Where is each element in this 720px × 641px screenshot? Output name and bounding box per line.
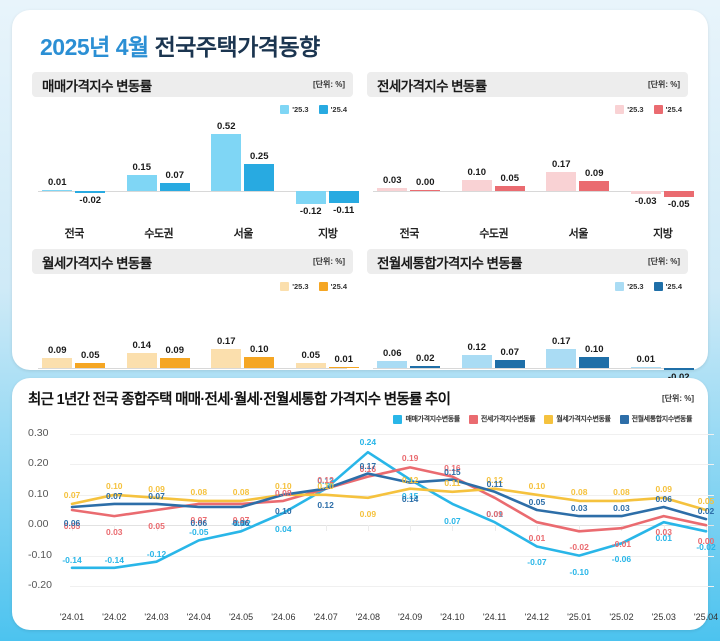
- legend-label: '25.4: [331, 282, 347, 291]
- category-label: 지방: [628, 225, 698, 241]
- data-point-label: 0.09: [486, 509, 503, 519]
- bar: [410, 366, 440, 368]
- bar-value-label: 0.02: [402, 353, 448, 364]
- data-point-label: 0.10: [275, 481, 292, 491]
- data-point-label: 0.07: [64, 490, 81, 500]
- data-point-label: 0.08: [191, 487, 208, 497]
- trend-plot: 0.300.200.100.00-0.10-0.20-0.14-0.14-0.1…: [28, 426, 718, 611]
- panel-header: 전월세통합가격지수 변동률[단위: %]: [367, 249, 688, 274]
- data-point-label: 0.10: [529, 481, 546, 491]
- bar-group: 0.150.07: [127, 119, 190, 223]
- data-point-label: 0.11: [487, 479, 503, 489]
- legend-swatch-icon: [319, 105, 328, 114]
- data-point-label: 0.08: [613, 487, 630, 497]
- panel-title: 전월세통합가격지수 변동률: [377, 252, 522, 272]
- x-axis-tick-label: '25.02: [609, 612, 633, 622]
- trend-legend-swatch-icon: [620, 415, 629, 424]
- data-point-label: 0.05: [698, 496, 715, 506]
- legend-swatch-icon: [319, 282, 328, 291]
- x-axis-tick-label: '24.09: [398, 612, 422, 622]
- trend-legend-label: 전세가격지수변동률: [481, 414, 535, 424]
- legend-item: '25.3: [615, 282, 643, 291]
- legend-item: '25.4: [319, 282, 347, 291]
- x-axis-tick-label: '24.03: [144, 612, 168, 622]
- data-point-label: 0.05: [529, 497, 546, 507]
- legend-item: '25.3: [280, 282, 308, 291]
- legend-item: '25.4: [654, 282, 682, 291]
- panel-header: 매매가격지수 변동률[단위: %]: [32, 72, 353, 97]
- x-axis-tick-label: '24.08: [356, 612, 380, 622]
- data-point-label: -0.02: [570, 542, 589, 552]
- unit-label: [단위: %]: [313, 79, 345, 90]
- legend-label: '25.4: [666, 105, 682, 114]
- bar-value-label: 0.52: [203, 121, 249, 132]
- bar: [75, 191, 105, 193]
- category-label: 서울: [208, 225, 278, 241]
- bar: [631, 367, 661, 369]
- legend-swatch-icon: [280, 105, 289, 114]
- trend-legend-item: 전월세통합지수변동률: [620, 414, 692, 424]
- trend-chart-card: 최근 1년간 전국 종합주택 매매·전세·월세·전월세통합 가격지수 변동률 추…: [12, 378, 708, 630]
- data-point-label: 0.10: [275, 506, 292, 516]
- bar: [495, 360, 525, 368]
- bar: [160, 183, 190, 191]
- bar-area: 0.030.000.100.050.170.09-0.03-0.05: [367, 119, 688, 223]
- bar-item: 0.03: [377, 119, 407, 223]
- panel-title: 매매가격지수 변동률: [42, 75, 152, 95]
- bar-item: 0.09: [579, 119, 609, 223]
- bar-group: 0.520.25: [211, 119, 274, 223]
- data-point-label: 0.03: [106, 527, 123, 537]
- trend-legend-label: 매매가격지수변동률: [405, 414, 459, 424]
- x-axis-tick-label: '24.10: [440, 612, 464, 622]
- title-month: 2025년 4월: [40, 34, 149, 60]
- bar: [410, 190, 440, 192]
- top-panels-card: 2025년 4월 전국주택가격동향 매매가격지수 변동률[단위: %]'25.3…: [12, 10, 708, 370]
- x-axis-tick-label: '24.05: [229, 612, 253, 622]
- category-label: 지방: [293, 225, 363, 241]
- legend-label: '25.3: [627, 282, 643, 291]
- legend-item: '25.4: [654, 105, 682, 114]
- x-axis-tick-label: '24.04: [187, 612, 211, 622]
- unit-label: [단위: %]: [313, 256, 345, 267]
- data-point-label: 0.03: [655, 527, 672, 537]
- bar: [244, 357, 274, 368]
- data-point-label: 0.05: [148, 521, 165, 531]
- title-main: 전국주택가격동향: [155, 34, 320, 60]
- data-point-label: 0.02: [698, 506, 715, 516]
- x-axis-tick-label: '25.03: [652, 612, 676, 622]
- x-axis-tick-label: '25.01: [567, 612, 591, 622]
- legend-swatch-icon: [280, 282, 289, 291]
- bar: [244, 164, 274, 192]
- trend-legend-label: 월세가격지수변동률: [556, 414, 610, 424]
- data-point-label: 0.07: [106, 491, 123, 501]
- bar-item: 0.52: [211, 119, 241, 223]
- data-point-label: 0.10: [317, 481, 334, 491]
- data-point-label: 0.17: [360, 461, 377, 471]
- bar-value-label: 0.10: [236, 344, 282, 355]
- legend-swatch-icon: [615, 105, 624, 114]
- bar-value-label: 0.01: [623, 354, 669, 365]
- bar-value-label: 0.05: [487, 173, 533, 184]
- data-point-label: 0.10: [106, 481, 123, 491]
- panel-2: 전세가격지수 변동률[단위: %]'25.3'25.40.030.000.100…: [367, 72, 688, 243]
- data-point-label: 0.14: [402, 494, 419, 504]
- bar: [495, 186, 525, 192]
- category-label: 서울: [543, 225, 613, 241]
- legend-label: '25.3: [627, 105, 643, 114]
- panel-legend: '25.3'25.4: [32, 278, 347, 294]
- trend-legend-item: 월세가격지수변동률: [544, 414, 610, 424]
- panel-legend: '25.3'25.4: [32, 101, 347, 117]
- bar: [211, 134, 241, 191]
- legend-label: '25.4: [666, 282, 682, 291]
- infographic-page: 2025년 4월 전국주택가격동향 매매가격지수 변동률[단위: %]'25.3…: [0, 0, 720, 641]
- trend-legend-swatch-icon: [469, 415, 478, 424]
- bar-group: -0.03-0.05: [631, 119, 694, 223]
- bar-group: 0.100.05: [462, 119, 525, 223]
- bar-value-label: 0.07: [487, 347, 533, 358]
- data-point-label: 0.24: [360, 437, 377, 447]
- data-point-label: 0.04: [275, 524, 292, 534]
- trend-legend-swatch-icon: [544, 415, 553, 424]
- bar-item: 0.07: [160, 119, 190, 223]
- data-point-label: -0.14: [105, 555, 124, 565]
- data-point-label: 0.08: [233, 487, 250, 497]
- bar: [377, 188, 407, 191]
- category-label: 수도권: [124, 225, 194, 241]
- x-axis-tick-label: '24.11: [483, 612, 507, 622]
- bar-value-label: 0.25: [236, 151, 282, 162]
- bar: [579, 181, 609, 191]
- bar-value-label: 0.10: [571, 344, 617, 355]
- bar-item: -0.05: [664, 119, 694, 223]
- data-point-label: 0.00: [698, 536, 715, 546]
- legend-label: '25.3: [292, 282, 308, 291]
- trend-legend-item: 매매가격지수변동률: [393, 414, 459, 424]
- bar-group: 0.030.00: [377, 119, 440, 223]
- x-axis-tick-label: '24.12: [525, 612, 549, 622]
- bar-value-label: -0.05: [656, 199, 702, 210]
- data-point-label: -0.14: [62, 555, 81, 565]
- data-point-label: 0.09: [360, 509, 377, 519]
- data-point-label: 0.06: [191, 518, 208, 528]
- x-axis-tick-label: '24.07: [313, 612, 337, 622]
- unit-label: [단위: %]: [648, 79, 680, 90]
- page-title: 2025년 4월 전국주택가격동향: [40, 28, 694, 62]
- data-point-label: -0.05: [189, 527, 208, 537]
- panel-header: 월세가격지수 변동률[단위: %]: [32, 249, 353, 274]
- data-point-label: -0.01: [612, 539, 631, 549]
- data-point-label: 0.12: [402, 475, 419, 485]
- data-point-label: 0.06: [233, 518, 250, 528]
- data-point-label: 0.06: [64, 518, 81, 528]
- trend-legend-label: 전월세통합지수변동률: [632, 414, 692, 424]
- bar-item: 0.05: [495, 119, 525, 223]
- panel-header: 전세가격지수 변동률[단위: %]: [367, 72, 688, 97]
- bar-value-label: 0.05: [67, 350, 113, 361]
- data-point-label: 0.03: [571, 503, 588, 513]
- panel-title: 월세가격지수 변동률: [42, 252, 152, 272]
- x-axis-tick-label: '24.02: [102, 612, 126, 622]
- bar-area: 0.01-0.020.150.070.520.25-0.12-0.11: [32, 119, 353, 223]
- trend-unit-label: [단위: %]: [662, 393, 694, 404]
- bar-item: 0.01: [42, 119, 72, 223]
- bar-value-label: 0.09: [152, 345, 198, 356]
- trend-legend: 매매가격지수변동률전세가격지수변동률월세가격지수변동률전월세통합지수변동률: [28, 414, 692, 424]
- legend-label: '25.4: [331, 105, 347, 114]
- bar: [579, 357, 609, 368]
- bar: [296, 191, 326, 204]
- bar-value-label: 0.01: [34, 177, 80, 188]
- bar: [664, 368, 694, 370]
- data-point-label: 0.15: [444, 467, 461, 477]
- bar-value-label: -0.11: [321, 205, 367, 216]
- panel-legend: '25.3'25.4: [367, 101, 682, 117]
- bar-item: -0.02: [75, 119, 105, 223]
- unit-label: [단위: %]: [648, 256, 680, 267]
- bar-item: 0.25: [244, 119, 274, 223]
- trend-title: 최근 1년간 전국 종합주택 매매·전세·월세·전월세통합 가격지수 변동률 추…: [28, 388, 450, 409]
- category-label: 수도권: [459, 225, 529, 241]
- trend-legend-item: 전세가격지수변동률: [469, 414, 535, 424]
- bar: [329, 191, 359, 203]
- x-axis-tick-label: '25.04: [694, 612, 718, 622]
- category-axis: 전국수도권서울지방: [367, 223, 688, 243]
- data-point-label: 0.11: [444, 478, 460, 488]
- category-axis: 전국수도권서울지방: [32, 223, 353, 243]
- data-point-label: 0.07: [444, 516, 461, 526]
- data-point-label: 0.01: [529, 533, 546, 543]
- bar-value-label: -0.02: [67, 195, 113, 206]
- bar-group: -0.12-0.11: [296, 119, 359, 223]
- trend-header: 최근 1년간 전국 종합주택 매매·전세·월세·전월세통합 가격지수 변동률 추…: [28, 388, 694, 409]
- data-point-label: 0.19: [402, 453, 419, 463]
- bar-value-label: 0.07: [152, 170, 198, 181]
- data-point-label: 0.03: [613, 503, 630, 513]
- panel-legend: '25.3'25.4: [367, 278, 682, 294]
- bar: [42, 190, 72, 192]
- bar-item: -0.11: [329, 119, 359, 223]
- data-point-label: 0.07: [148, 491, 165, 501]
- bar: [664, 191, 694, 197]
- bar-value-label: 0.00: [402, 177, 448, 188]
- data-point-label: 0.09: [655, 484, 672, 494]
- bar-group: 0.01-0.02: [42, 119, 105, 223]
- legend-swatch-icon: [615, 282, 624, 291]
- x-axis-tick-label: '24.01: [60, 612, 84, 622]
- bar-value-label: 0.01: [321, 354, 367, 365]
- panel-1: 매매가격지수 변동률[단위: %]'25.3'25.40.01-0.020.15…: [32, 72, 353, 243]
- legend-item: '25.3: [615, 105, 643, 114]
- data-point-label: 0.12: [317, 500, 334, 510]
- bar: [631, 191, 661, 194]
- panel-grid: 매매가격지수 변동률[단위: %]'25.3'25.40.01-0.020.15…: [26, 72, 694, 420]
- data-point-label: 0.08: [571, 487, 588, 497]
- legend-swatch-icon: [654, 105, 663, 114]
- legend-label: '25.3: [292, 105, 308, 114]
- data-point-label: -0.12: [147, 549, 166, 559]
- data-point-label: 0.06: [655, 494, 672, 504]
- legend-item: '25.4: [319, 105, 347, 114]
- bar: [160, 358, 190, 368]
- bar-item: 0.00: [410, 119, 440, 223]
- data-point-label: -0.10: [570, 567, 589, 577]
- trend-x-axis: '24.01'24.02'24.03'24.04'24.05'24.06'24.…: [28, 612, 694, 628]
- data-point-label: -0.07: [527, 557, 546, 567]
- category-label: 전국: [39, 225, 109, 241]
- data-point-label: -0.06: [612, 554, 631, 564]
- bar: [329, 367, 359, 369]
- bar-group: 0.170.09: [546, 119, 609, 223]
- trend-legend-swatch-icon: [393, 415, 402, 424]
- bar: [75, 363, 105, 369]
- panel-title: 전세가격지수 변동률: [377, 75, 487, 95]
- legend-swatch-icon: [654, 282, 663, 291]
- category-label: 전국: [374, 225, 444, 241]
- x-axis-tick-label: '24.06: [271, 612, 295, 622]
- bar-value-label: 0.09: [571, 168, 617, 179]
- legend-item: '25.3: [280, 105, 308, 114]
- bar-item: 0.10: [462, 119, 492, 223]
